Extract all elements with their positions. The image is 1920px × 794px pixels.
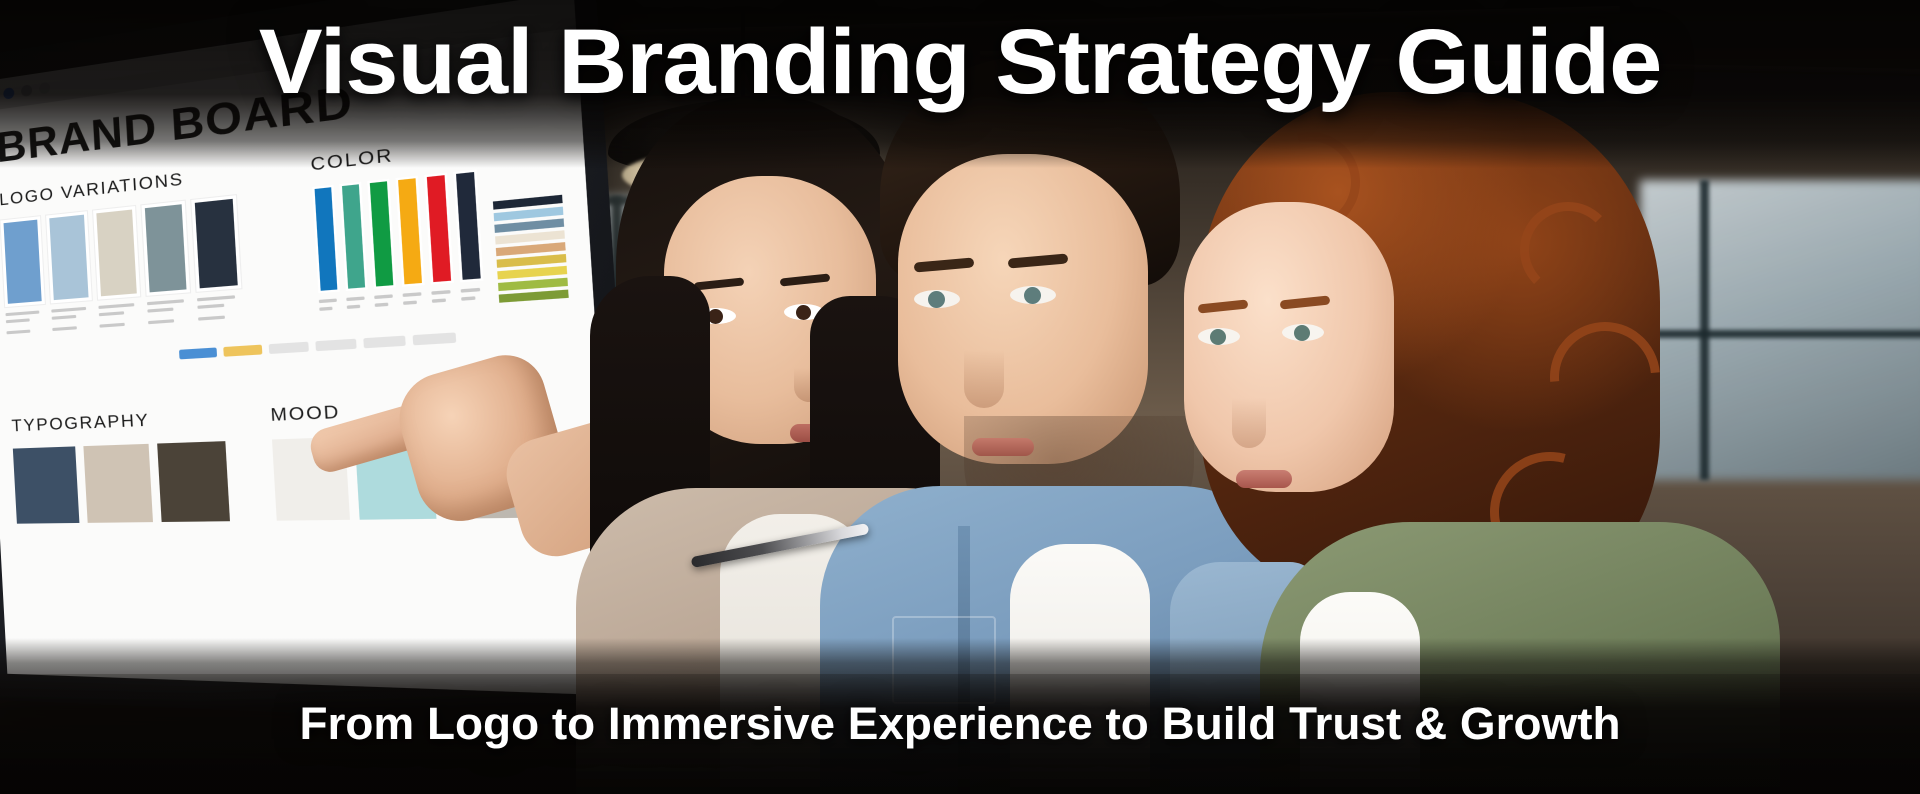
face	[898, 154, 1148, 464]
logo-swatch[interactable]	[191, 195, 243, 325]
type-thumb-navy[interactable]	[13, 446, 80, 523]
color-bar-teal	[339, 182, 367, 291]
eyebrow	[780, 273, 831, 286]
lips	[1236, 470, 1292, 488]
color-bar-red	[424, 173, 454, 285]
eye	[1282, 324, 1324, 341]
typography-section: TYPOGRAPHY	[11, 404, 277, 523]
logo-swatch[interactable]	[93, 206, 142, 332]
color-bar[interactable]	[367, 179, 397, 312]
mini-tab-1[interactable]	[269, 342, 309, 354]
swatch-slate-teal	[141, 201, 190, 296]
page-title: Visual Branding Strategy Guide	[0, 16, 1920, 110]
logo-swatch[interactable]	[141, 201, 191, 329]
swatch-light-blue	[46, 211, 92, 303]
typography-label: TYPOGRAPHY	[11, 404, 271, 436]
color-bar[interactable]	[424, 173, 455, 308]
eye	[914, 290, 960, 308]
eyebrow	[914, 257, 975, 272]
swatch-beige	[93, 206, 140, 300]
mini-tab-active[interactable]	[179, 347, 217, 359]
swatch-meta	[147, 299, 192, 325]
color-bar-blue	[312, 185, 340, 293]
nose	[1232, 398, 1266, 448]
mini-tab-4[interactable]	[413, 332, 457, 345]
swatch-primary-blue	[0, 216, 44, 307]
page-subtitle: From Logo to Immersive Experience to Bui…	[0, 698, 1920, 750]
color-stripe-stack	[492, 195, 568, 303]
eyebrow	[694, 277, 745, 290]
face	[1184, 202, 1394, 492]
hero-banner: BRAND BOARD LOGO VARIATIONS	[0, 0, 1920, 794]
hair-curl	[1520, 202, 1616, 298]
lips	[972, 438, 1034, 456]
mini-tab-2[interactable]	[316, 339, 357, 352]
swatch-meta	[197, 295, 243, 321]
logo-swatch-row	[0, 188, 310, 338]
typography-thumb-row	[13, 439, 277, 523]
stripe-yellow	[497, 266, 567, 280]
mini-tab-3[interactable]	[364, 336, 406, 349]
eyebrow	[1198, 299, 1249, 313]
color-bar-navy	[453, 169, 483, 282]
mini-tab-accent[interactable]	[224, 345, 263, 357]
color-bar[interactable]	[312, 185, 341, 316]
logo-swatch[interactable]	[46, 211, 94, 335]
logo-variations-section: LOGO VARIATIONS	[0, 155, 310, 338]
swatch-meta	[51, 306, 93, 331]
stripe-moss	[498, 290, 568, 303]
eyebrow	[1008, 253, 1069, 268]
color-bar[interactable]	[395, 176, 426, 310]
eyebrow	[1280, 295, 1331, 309]
eye	[1010, 286, 1056, 304]
swatch-meta	[98, 303, 141, 328]
eye	[1198, 328, 1240, 345]
swatch-dark-navy	[191, 195, 241, 292]
color-bar[interactable]	[453, 169, 485, 305]
nose	[964, 350, 1004, 408]
swatch-meta	[5, 310, 46, 334]
stripe-olive	[498, 278, 568, 291]
logo-swatch[interactable]	[0, 216, 46, 338]
color-bar-green	[367, 179, 396, 289]
color-bar[interactable]	[339, 182, 369, 314]
color-bar-row	[312, 160, 569, 315]
type-thumb-sand[interactable]	[83, 444, 153, 523]
type-thumb-dark[interactable]	[157, 441, 230, 522]
color-bar-orange	[395, 176, 424, 287]
